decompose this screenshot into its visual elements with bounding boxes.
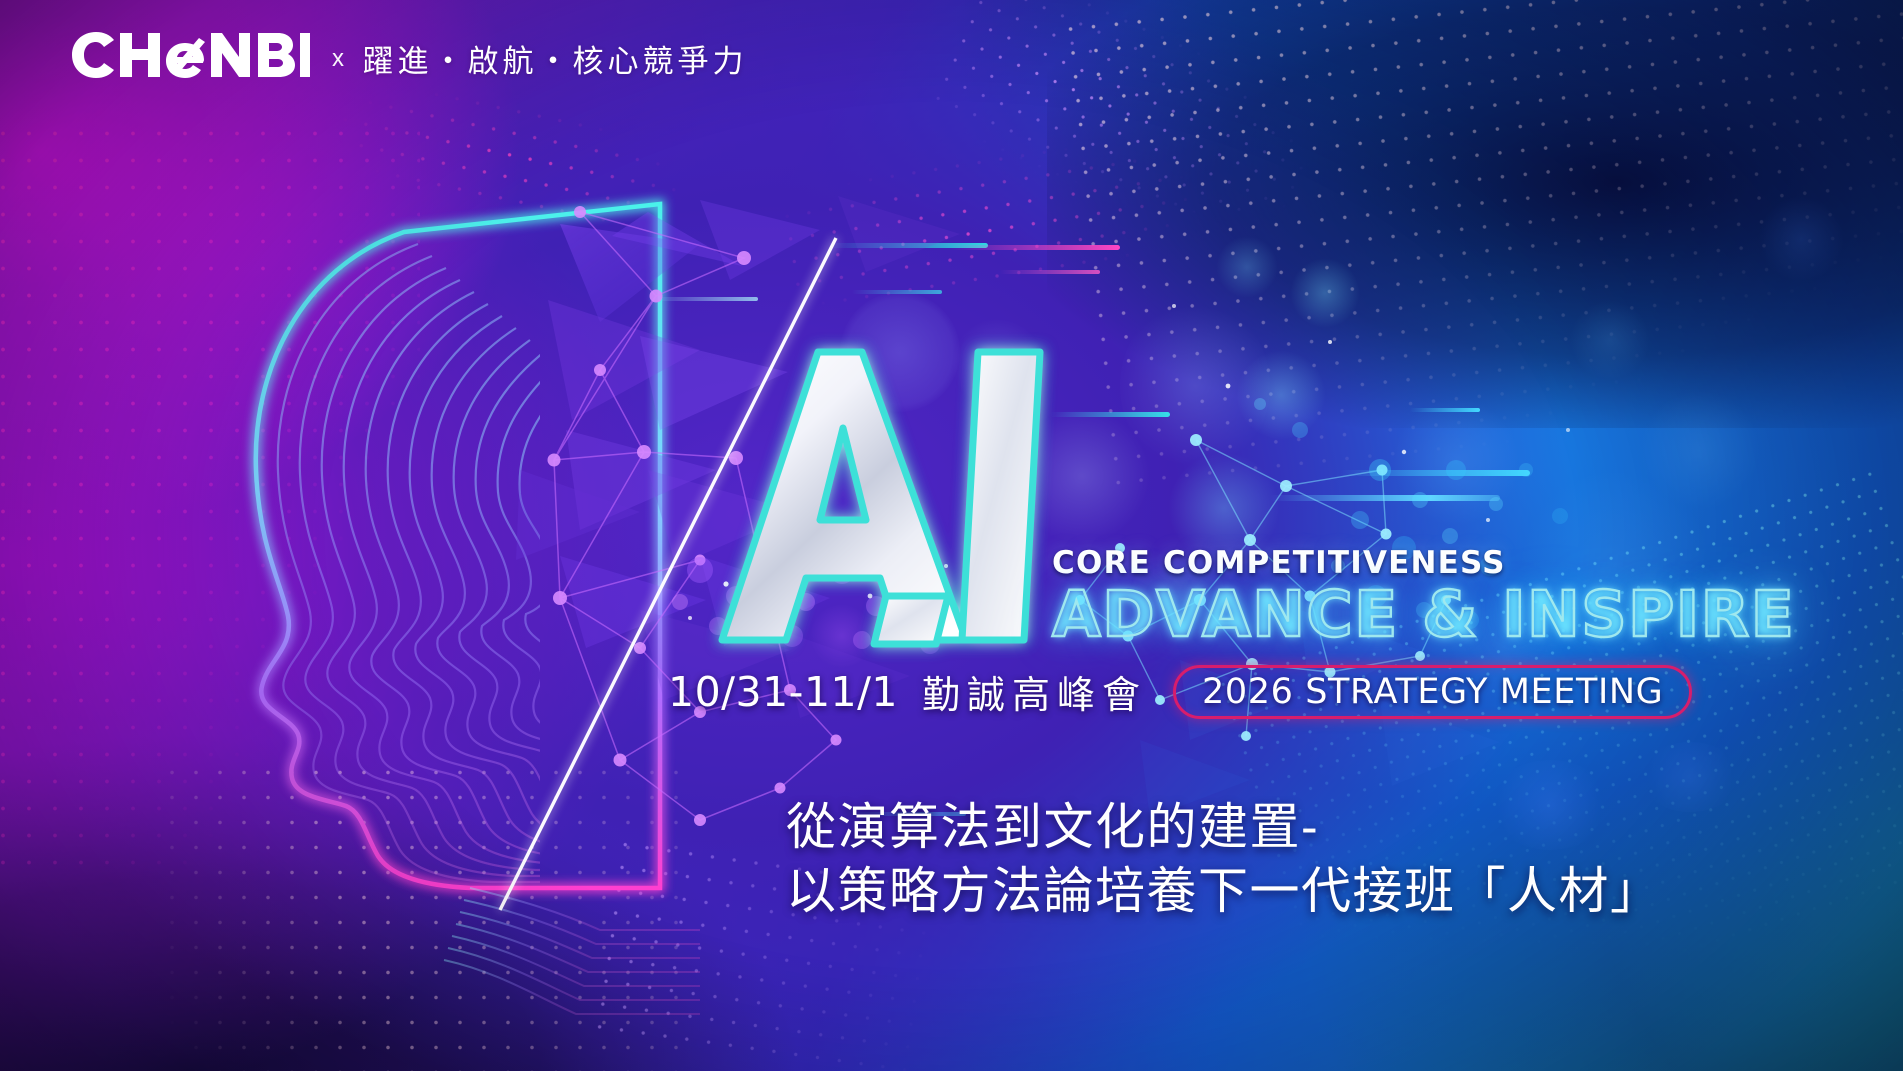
subtitle-line-1: 從演算法到文化的建置- (786, 795, 1662, 859)
subtitle-line-2: 以策略方法論培養下一代接班「人材」 (786, 859, 1662, 923)
strategy-meeting-badge: 2026 STRATEGY MEETING (1173, 665, 1692, 719)
core-competitiveness-text: CORE COMPETITIVENESS (1052, 545, 1795, 581)
advance-inspire-text: ADVANCE & INSPIRE (1052, 582, 1795, 648)
event-date-row: 10/31-11/1 勤誠高峰會 2026 STRATEGY MEETING (668, 664, 1692, 719)
hero-tagline-block: CORE COMPETITIVENESS ADVANCE & INSPIRE (1052, 545, 1795, 648)
chenbro-logo-mark (72, 32, 310, 78)
header-tagline-cn: 躍進・啟航・核心競爭力 (363, 36, 748, 81)
logo-separator-x: x (332, 45, 345, 73)
event-subtitle-block: 從演算法到文化的建置- 以策略方法論培養下一代接班「人材」 (786, 795, 1662, 923)
chenbro-logo[interactable] (72, 32, 310, 83)
event-poster: x 躍進・啟航・核心競爭力 CORE COMPETITIVENESS ADVAN… (0, 0, 1903, 1071)
event-summit-name-cn: 勤誠高峰會 (922, 664, 1147, 719)
strategy-meeting-badge-label: 2026 STRATEGY MEETING (1202, 672, 1663, 712)
event-date-range: 10/31-11/1 (668, 668, 898, 716)
brand-header: x 躍進・啟航・核心競爭力 (72, 32, 748, 83)
